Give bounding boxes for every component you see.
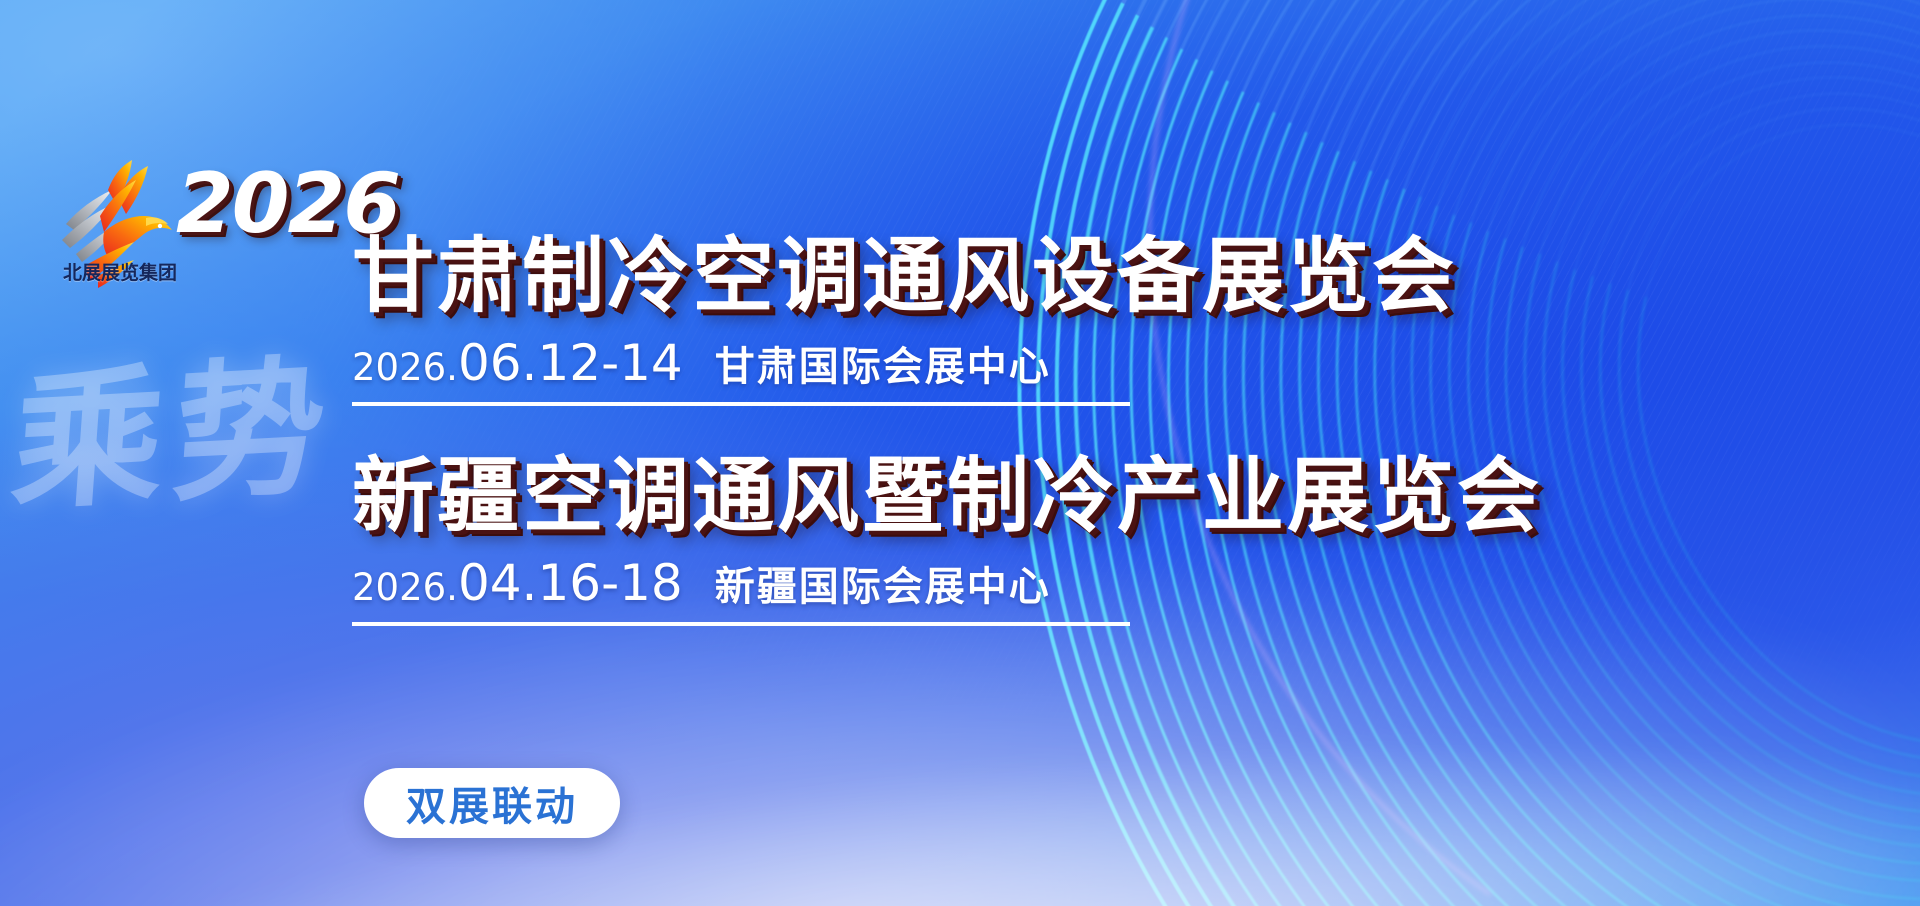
date-range: 04.16-18	[458, 554, 683, 612]
dual-exhibition-badge[interactable]: 双展联动	[364, 768, 620, 838]
exhibition-title: 新疆空调通风暨制冷产业展览会	[352, 456, 1652, 538]
exhibition-block-gansu: 甘肃制冷空调通风设备展览会 2026. 06.12-14 甘肃国际会展中心	[352, 236, 1652, 406]
date-range: 06.12-14	[458, 334, 683, 392]
calligraphy-watermark: 乘势	[5, 312, 353, 559]
exhibition-banner: 乘势	[0, 0, 1920, 906]
exhibition-block-xinjiang: 新疆空调通风暨制冷产业展览会 2026. 04.16-18 新疆国际会展中心	[352, 456, 1652, 626]
exhibition-title: 甘肃制冷空调通风设备展览会	[352, 236, 1652, 318]
venue-name: 甘肃国际会展中心	[715, 334, 1051, 392]
exhibition-dateline: 2026. 04.16-18 新疆国际会展中心	[352, 538, 1130, 626]
logo-company-name: 北展展览集团	[62, 258, 178, 285]
date-year: 2026.	[352, 566, 458, 609]
date-year: 2026.	[352, 346, 458, 389]
exhibition-dateline: 2026. 06.12-14 甘肃国际会展中心	[352, 318, 1130, 406]
exhibition-list: 甘肃制冷空调通风设备展览会 2026. 06.12-14 甘肃国际会展中心 新疆…	[352, 236, 1652, 650]
venue-name: 新疆国际会展中心	[715, 554, 1051, 612]
